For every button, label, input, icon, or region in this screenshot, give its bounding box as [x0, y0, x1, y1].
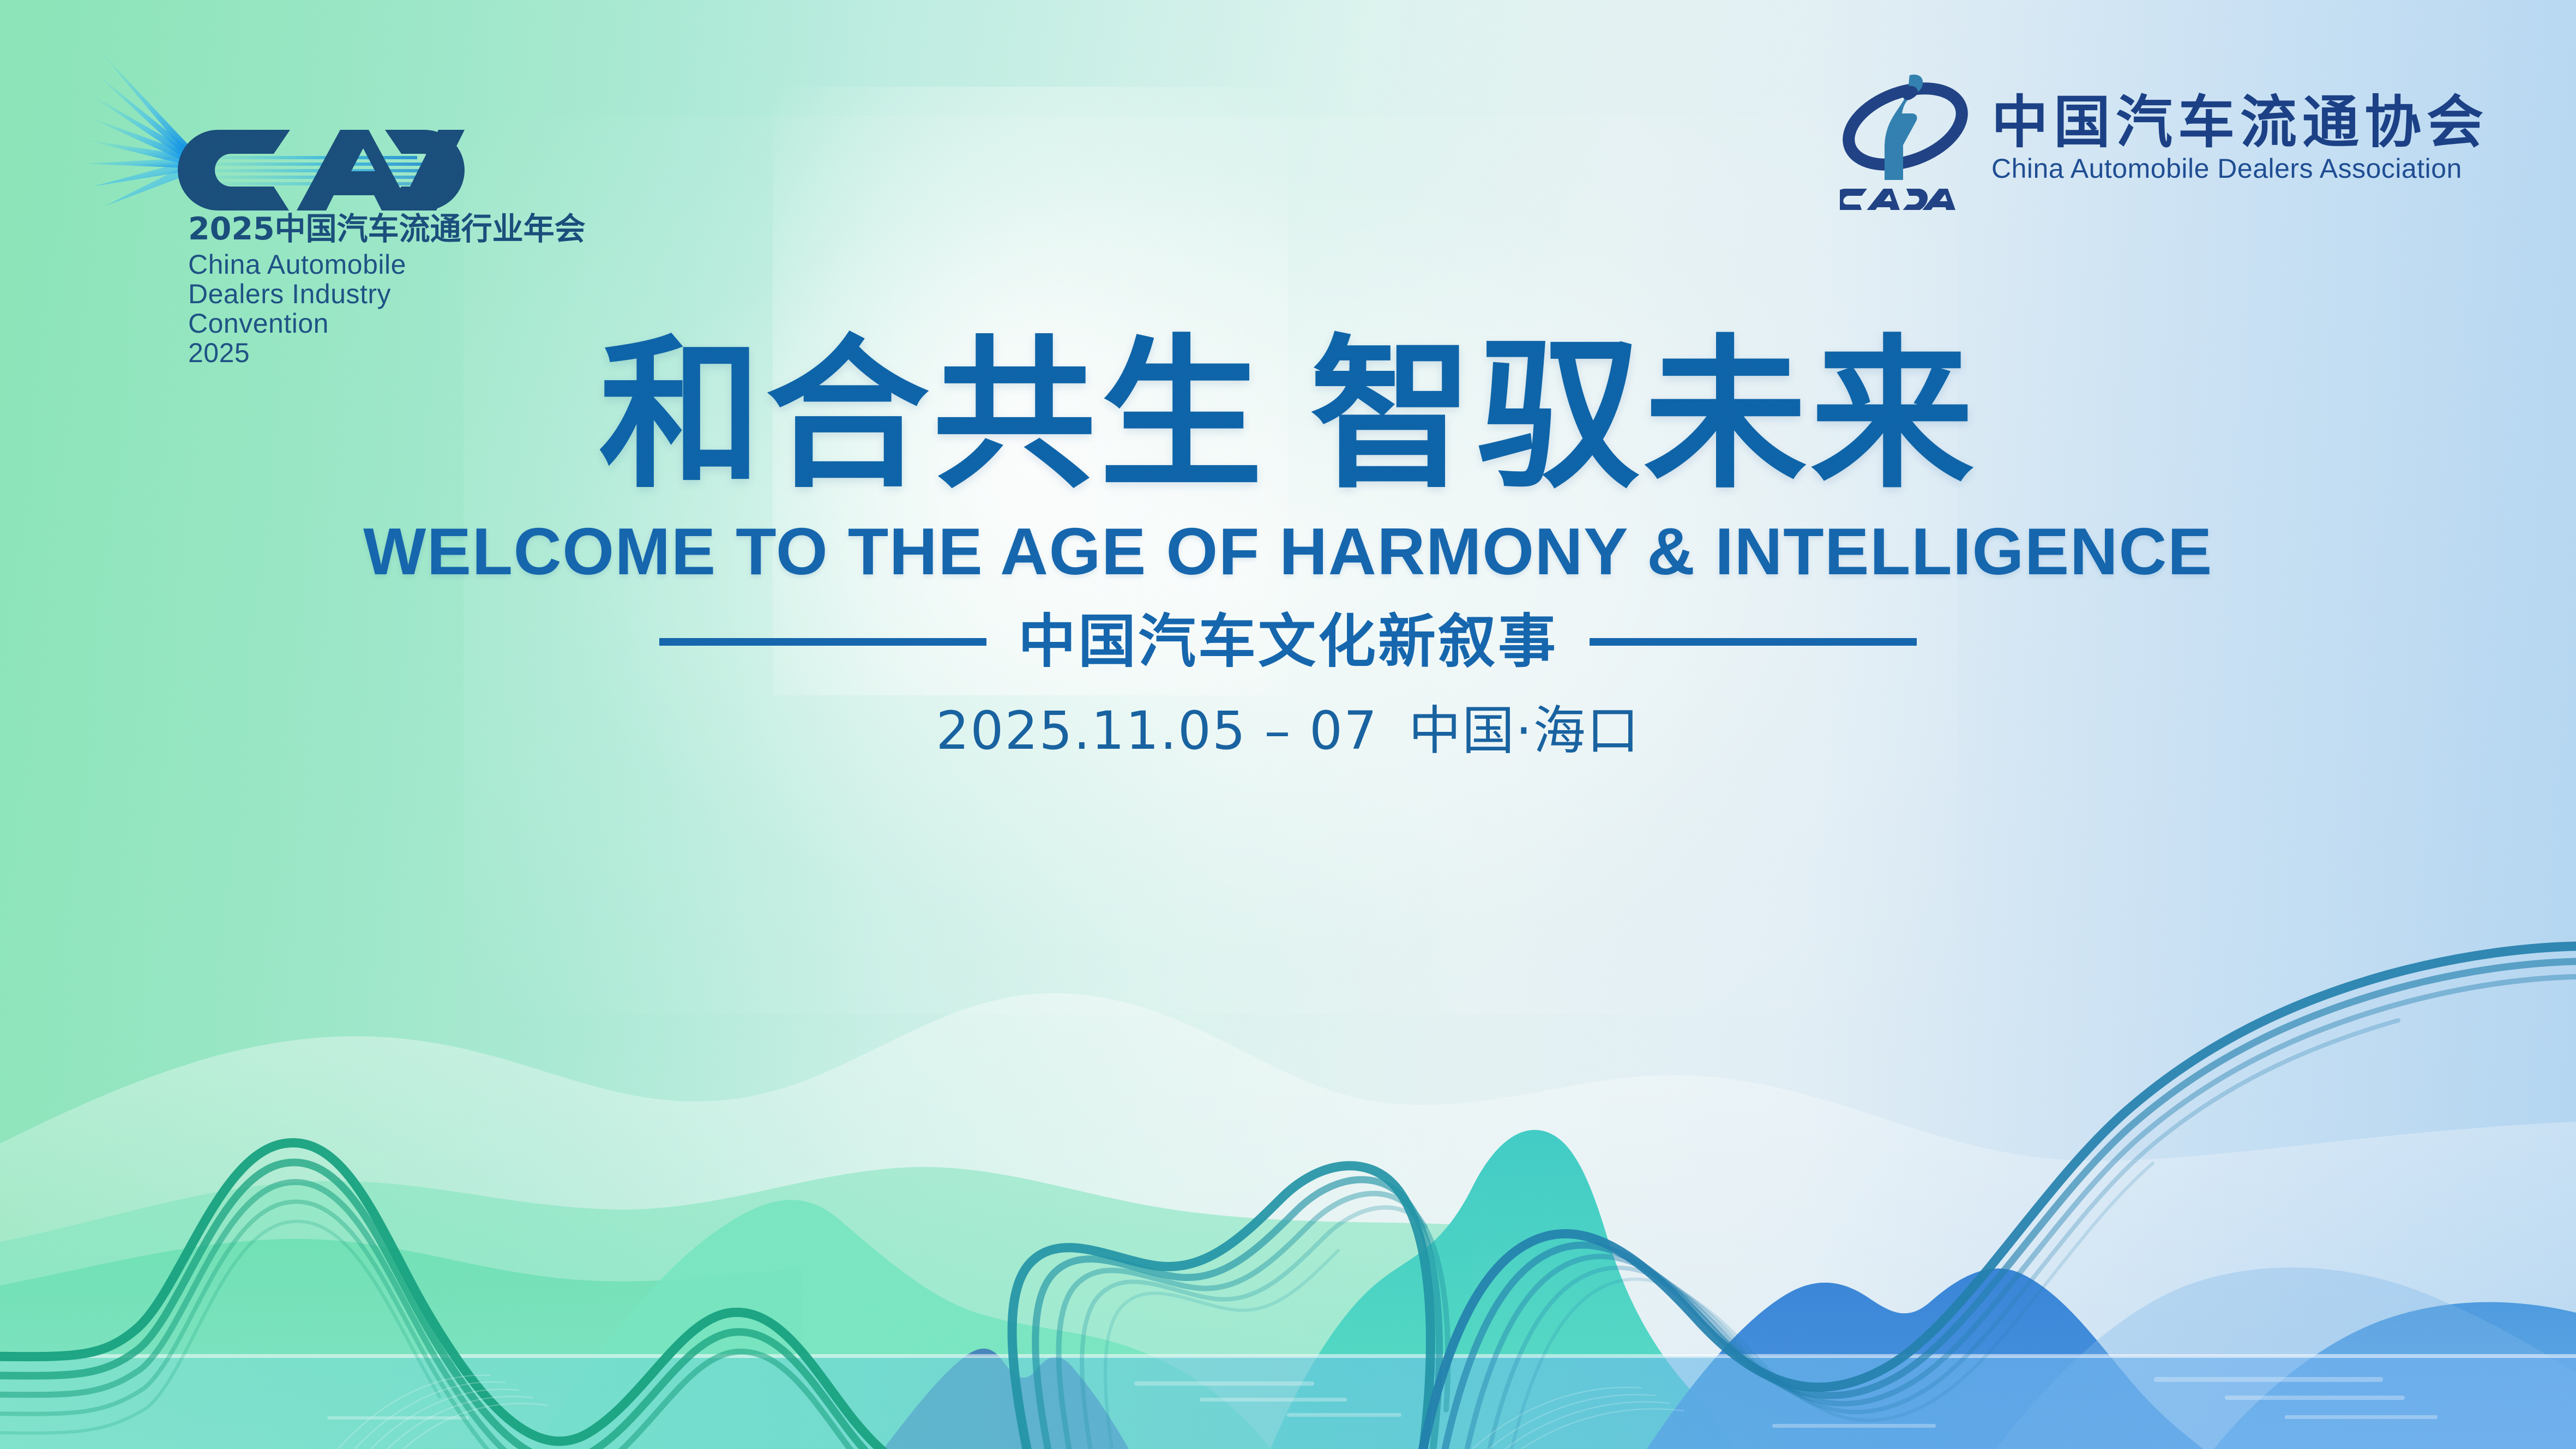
hero-date: 2025.11.05 – 07	[936, 700, 1378, 761]
cada-emblem-icon	[1840, 65, 1971, 210]
hero-title: 和合共生智驭未来	[0, 327, 2576, 504]
association-logo-text: 中国汽车流通协会 China Automobile Dealers Associ…	[1991, 94, 2489, 182]
event-logo-line-cn: 2025中国汽车流通行业年会	[188, 213, 472, 246]
hero-block: 和合共生智驭未来 WELCOME TO THE AGE OF HARMONY &…	[0, 327, 2576, 757]
conference-banner: 2025中国汽车流通行业年会 China Automobile Dealers …	[0, 0, 2576, 1449]
hero-subtitle-cn: 中国汽车文化新叙事	[1018, 613, 1558, 671]
association-name-en: China Automobile Dealers Association	[1991, 155, 2489, 182]
hero-title-part-1: 和合共生	[599, 320, 1266, 510]
event-logo-line-en-2: Dealers Industry	[188, 279, 472, 309]
event-logo-line-en-1: China Automobile	[188, 250, 472, 279]
hero-subtitle-cn-row: 中国汽车文化新叙事	[0, 613, 2576, 671]
hero-title-part-2: 智驭未来	[1310, 320, 1977, 510]
landscape-illustration	[0, 805, 2576, 1449]
hero-meta: 2025.11.05 – 07中国·海口	[0, 705, 2576, 757]
event-logo: 2025中国汽车流通行业年会 China Automobile Dealers …	[76, 33, 469, 316]
association-logo: 中国汽车流通协会 China Automobile Dealers Associ…	[1840, 65, 2489, 210]
association-name-cn: 中国汽车流通协会	[1991, 94, 2489, 151]
divider-right	[1590, 638, 1917, 646]
divider-left	[659, 638, 986, 646]
hero-subtitle-en: WELCOME TO THE AGE OF HARMONY & INTELLIG…	[0, 518, 2576, 585]
hero-location: 中国·海口	[1409, 700, 1640, 761]
